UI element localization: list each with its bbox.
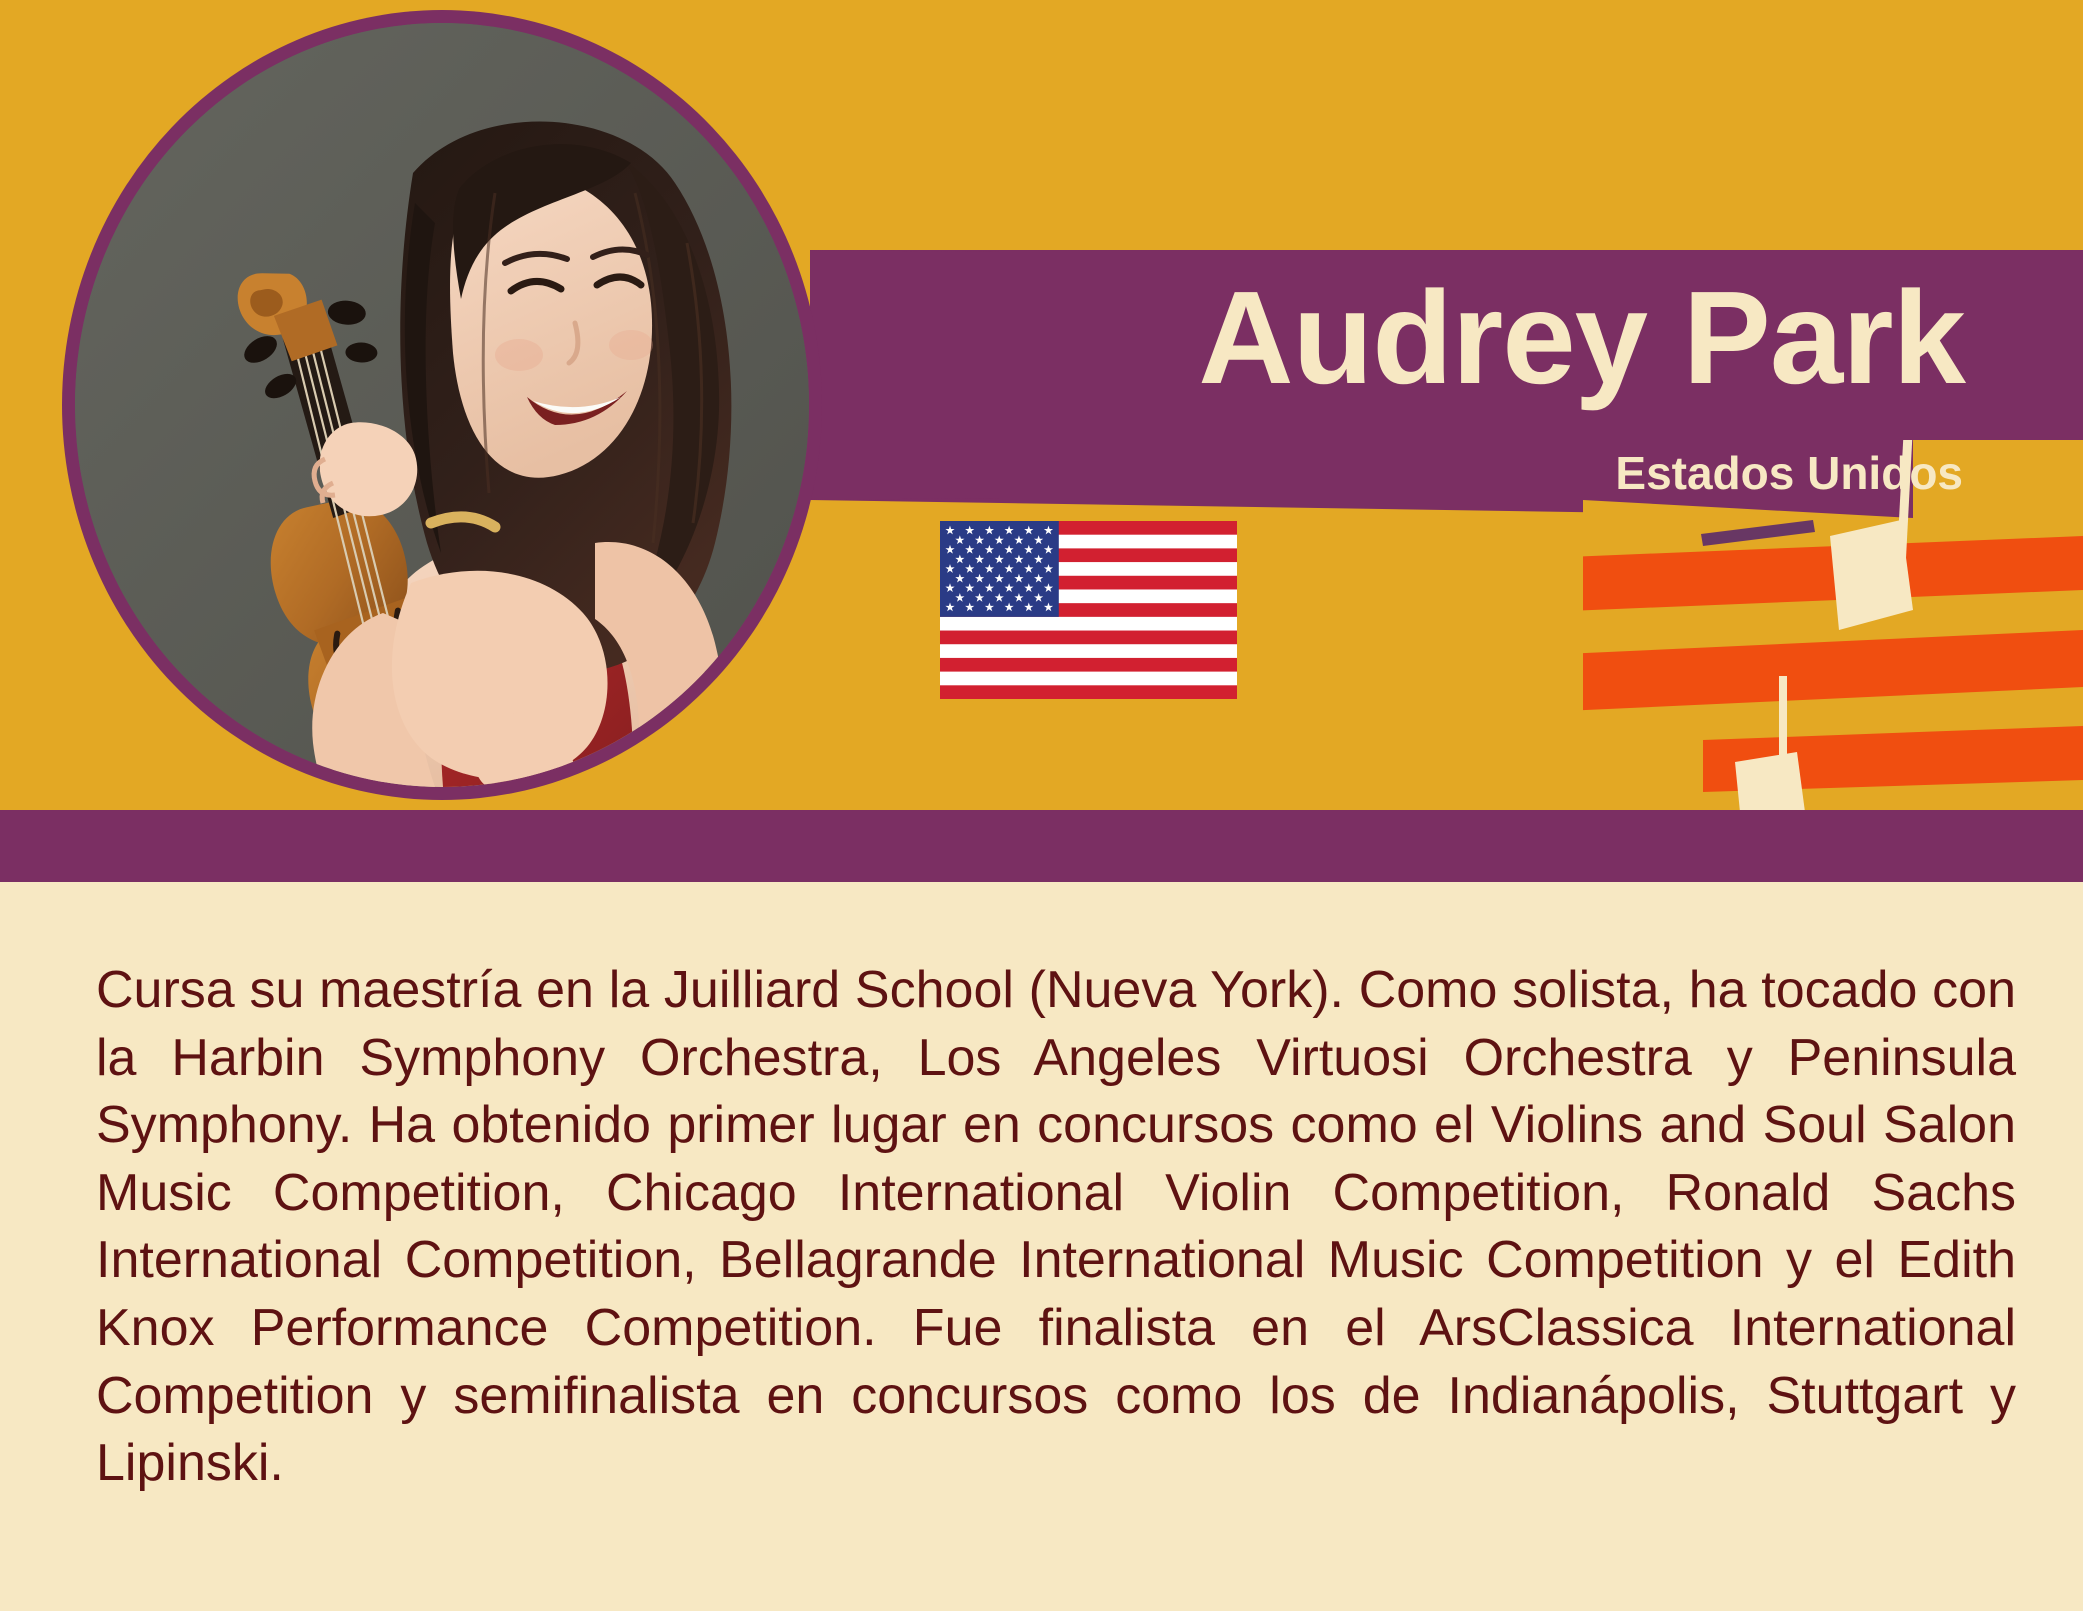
united-states-flag-icon: [940, 521, 1237, 699]
biography-section: Cursa su maestría en la Juilliard School…: [0, 882, 2083, 1611]
artist-name: Audrey Park: [1198, 272, 1965, 404]
violinist-photo: [75, 23, 809, 787]
biography-text: Cursa su maestría en la Juilliard School…: [96, 957, 2016, 1498]
purple-separator-bar: [0, 810, 2083, 882]
portrait-photo-clip: [75, 23, 809, 787]
header-section: Audrey Park Estados Unidos: [0, 0, 2083, 810]
artist-country: Estados Unidos: [1615, 446, 1963, 500]
artist-profile-card: Audrey Park Estados Unidos Cursa su maes…: [0, 0, 2083, 1611]
corner-decoration-graphic: [1583, 440, 2083, 810]
artist-portrait: [62, 10, 822, 800]
